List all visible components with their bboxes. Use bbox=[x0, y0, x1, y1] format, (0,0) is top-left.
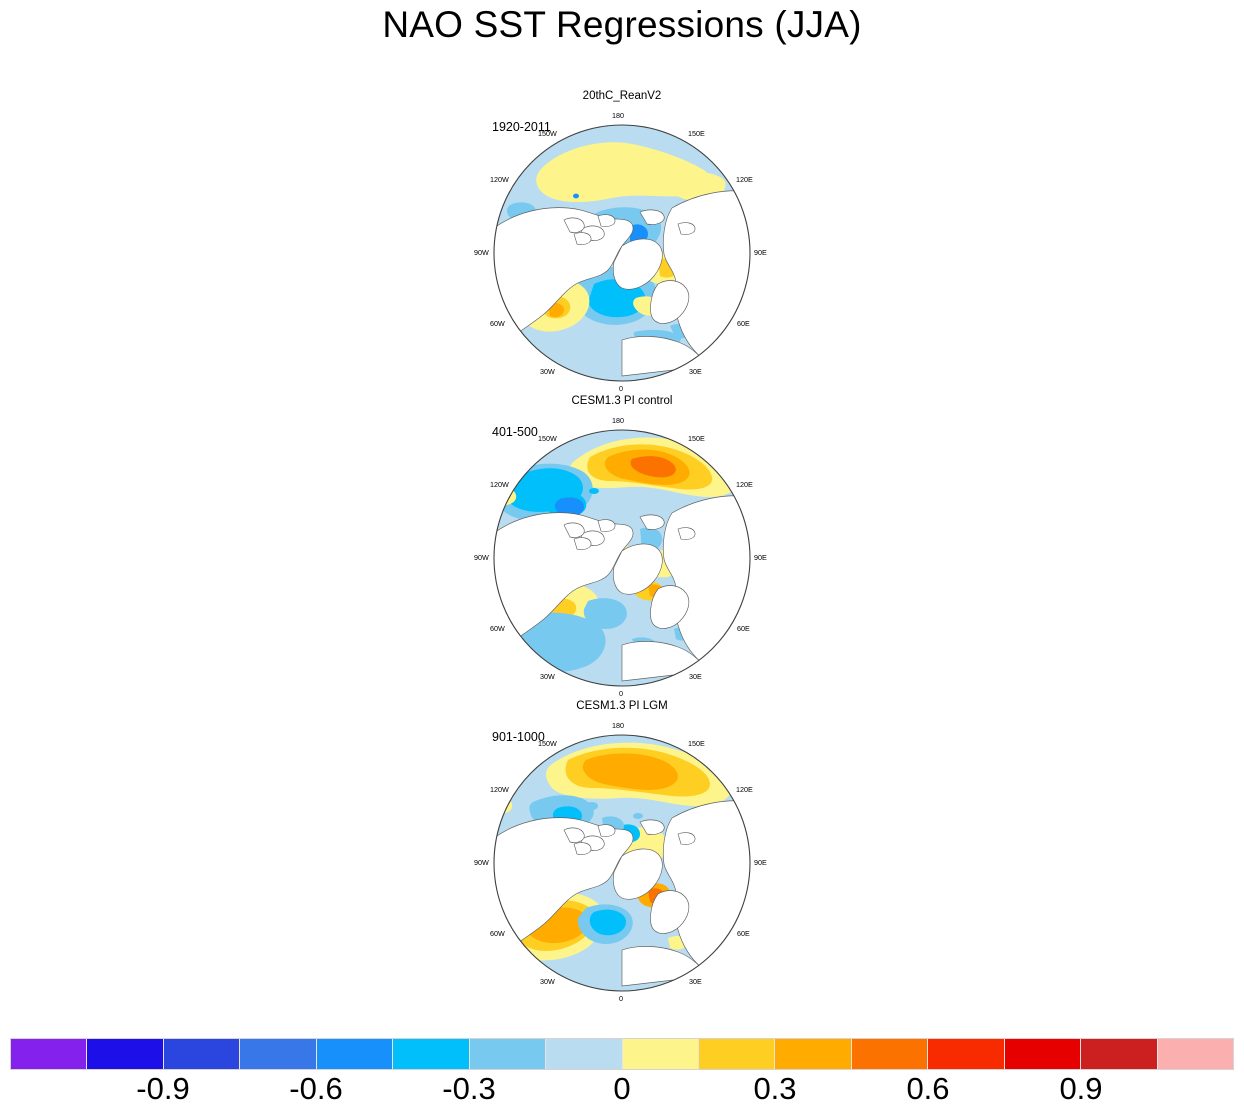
colorbar-cell-12 bbox=[928, 1039, 1004, 1069]
colorbar-tick-label: -0.3 bbox=[442, 1072, 495, 1107]
lon-label-90w: 90W bbox=[474, 859, 489, 866]
colorbar-cell-9 bbox=[699, 1039, 775, 1069]
lon-label-150e: 150E bbox=[688, 130, 705, 137]
lon-label-180: 180 bbox=[612, 417, 624, 424]
panel-title: CESM1.3 PI LGM bbox=[0, 700, 1244, 712]
colorbar-cell-0 bbox=[11, 1039, 87, 1069]
colorbar-cell-7 bbox=[546, 1039, 622, 1069]
colorbar-tick-label: 0.6 bbox=[906, 1072, 949, 1107]
polar-map-2: 180 150W 120W 90W 60W 30W 0 30E 60E 90E … bbox=[472, 718, 772, 1001]
polar-stereographic-map-svg bbox=[472, 108, 772, 391]
lon-label-60e: 60E bbox=[737, 930, 750, 937]
colorbar-cell-4 bbox=[317, 1039, 393, 1069]
lon-label-30w: 30W bbox=[540, 368, 555, 375]
colorbar-cell-8 bbox=[623, 1039, 699, 1069]
colorbar-cell-14 bbox=[1081, 1039, 1157, 1069]
colorbar-cell-1 bbox=[87, 1039, 163, 1069]
map-panel-cesm13-pi-lgm: CESM1.3 PI LGM 901-1000 bbox=[0, 696, 1244, 1001]
lon-label-120e: 120E bbox=[736, 176, 753, 183]
colorbar-cell-6 bbox=[470, 1039, 546, 1069]
lon-label-0: 0 bbox=[619, 995, 623, 1002]
lon-label-180: 180 bbox=[612, 112, 624, 119]
lon-label-30w: 30W bbox=[540, 978, 555, 985]
lon-label-60w: 60W bbox=[490, 625, 505, 632]
lon-label-30e: 30E bbox=[689, 978, 702, 985]
lon-label-150w: 150W bbox=[538, 435, 557, 442]
colorbar-tick-label: 0 bbox=[613, 1072, 630, 1107]
figure-title: NAO SST Regressions (JJA) bbox=[0, 4, 1244, 46]
colorbar-cell-2 bbox=[164, 1039, 240, 1069]
lon-label-60w: 60W bbox=[490, 930, 505, 937]
lon-label-180: 180 bbox=[612, 722, 624, 729]
polar-map-0: 180 150W 120W 90W 60W 30W 0 30E 60E 90E … bbox=[472, 108, 772, 391]
polar-stereographic-map-svg bbox=[472, 413, 772, 696]
colorbar-cell-13 bbox=[1005, 1039, 1081, 1069]
colorbar-tick-label: -0.6 bbox=[289, 1072, 342, 1107]
lon-label-90e: 90E bbox=[754, 249, 767, 256]
lon-label-120e: 120E bbox=[736, 481, 753, 488]
polar-stereographic-map-svg bbox=[472, 718, 772, 1001]
polar-map-1: 180 150W 120W 90W 60W 30W 0 30E 60E 90E … bbox=[472, 413, 772, 696]
lon-label-30w: 30W bbox=[540, 673, 555, 680]
colorbar-cell-11 bbox=[852, 1039, 928, 1069]
lon-label-120w: 120W bbox=[490, 786, 509, 793]
colorbar-cell-5 bbox=[393, 1039, 469, 1069]
colorbar-cell-3 bbox=[240, 1039, 316, 1069]
colorbar-cell-10 bbox=[775, 1039, 851, 1069]
map-panel-cesm13-pi-control: CESM1.3 PI control 401-500 bbox=[0, 391, 1244, 696]
lon-label-30e: 30E bbox=[689, 673, 702, 680]
panel-title: 20thC_ReanV2 bbox=[0, 90, 1244, 102]
lon-label-60w: 60W bbox=[490, 320, 505, 327]
colorbar-cell-15 bbox=[1158, 1039, 1233, 1069]
lon-label-120w: 120W bbox=[490, 176, 509, 183]
colorbar-tick-label: 0.9 bbox=[1059, 1072, 1102, 1107]
lon-label-150e: 150E bbox=[688, 740, 705, 747]
colorbar-tick-label: 0.3 bbox=[753, 1072, 796, 1107]
lon-label-60e: 60E bbox=[737, 625, 750, 632]
map-panel-20thc-reanv2: 20thC_ReanV2 1920-2011 bbox=[0, 86, 1244, 391]
lon-label-120e: 120E bbox=[736, 786, 753, 793]
lon-label-150w: 150W bbox=[538, 740, 557, 747]
lon-label-30e: 30E bbox=[689, 368, 702, 375]
colorbar-tick-label: -0.9 bbox=[136, 1072, 189, 1107]
lon-label-90w: 90W bbox=[474, 554, 489, 561]
lon-label-60e: 60E bbox=[737, 320, 750, 327]
lon-label-90e: 90E bbox=[754, 554, 767, 561]
panel-title: CESM1.3 PI control bbox=[0, 395, 1244, 407]
lon-label-90w: 90W bbox=[474, 249, 489, 256]
colorbar-tick-labels: -0.9-0.6-0.300.30.60.9 bbox=[0, 1072, 1244, 1116]
lon-label-120w: 120W bbox=[490, 481, 509, 488]
colorbar bbox=[10, 1038, 1234, 1070]
lon-label-150w: 150W bbox=[538, 130, 557, 137]
lon-label-90e: 90E bbox=[754, 859, 767, 866]
lon-label-150e: 150E bbox=[688, 435, 705, 442]
